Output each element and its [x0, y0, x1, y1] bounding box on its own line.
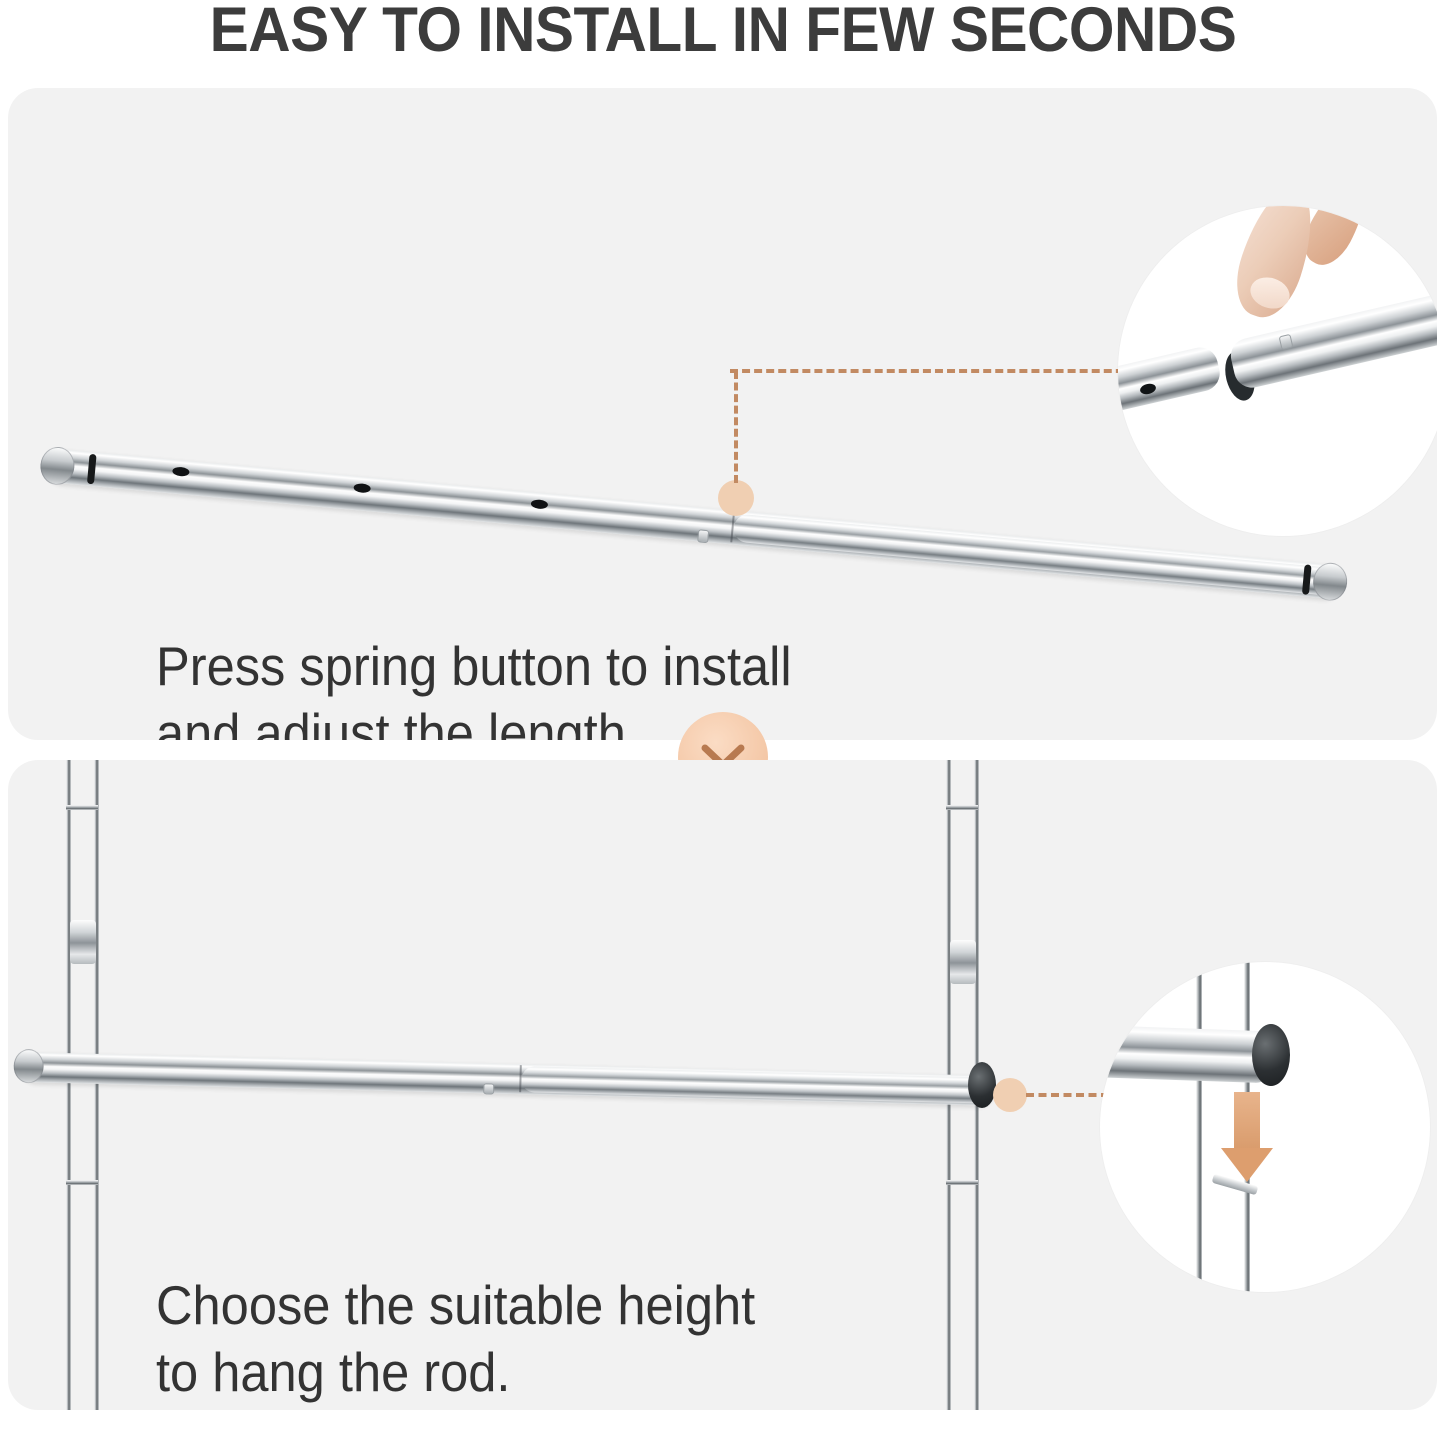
connector-line-horizontal-top: [730, 369, 1160, 373]
inset-wire-post-left: [1196, 962, 1202, 1292]
direction-arrow-shaft: [1234, 1092, 1260, 1154]
rod-right-black-cap: [968, 1062, 996, 1108]
infographic-page: EASY TO INSTALL IN FEW SECONDS: [0, 0, 1445, 1429]
rod-end-cap-detail-inset: [1100, 962, 1430, 1292]
inset-tube-left: [1118, 344, 1223, 416]
connector-line-vertical-top: [734, 371, 738, 483]
inset-rod-tube: [1100, 1025, 1275, 1084]
wire-rung-left-upper: [66, 805, 98, 810]
spring-button: [697, 529, 709, 543]
wire-rung-left-lower: [66, 1180, 98, 1185]
page-title: EASY TO INSTALL IN FEW SECONDS: [0, 0, 1445, 70]
rack-clip-left: [70, 920, 96, 964]
wire-rung-right-upper: [946, 805, 978, 810]
connector-dot-bottom: [993, 1078, 1027, 1112]
inset-rod-end-cap: [1252, 1024, 1290, 1086]
wire-rung-right-lower: [946, 1180, 978, 1185]
spring-button: [483, 1083, 494, 1094]
telescoping-rod-bottom: [21, 1052, 994, 1136]
step-1-panel: Press spring button to install and adjus…: [8, 88, 1437, 740]
spring-button-detail-inset: [1118, 206, 1437, 536]
direction-arrow-head: [1221, 1148, 1273, 1182]
rack-clip-right: [950, 940, 976, 984]
connector-dot-top: [718, 480, 754, 516]
page-title-text: EASY TO INSTALL IN FEW SECONDS: [209, 0, 1236, 62]
step-2-panel: Choose the suitable height to hang the r…: [8, 760, 1437, 1410]
step-2-caption: Choose the suitable height to hang the r…: [156, 1272, 755, 1406]
